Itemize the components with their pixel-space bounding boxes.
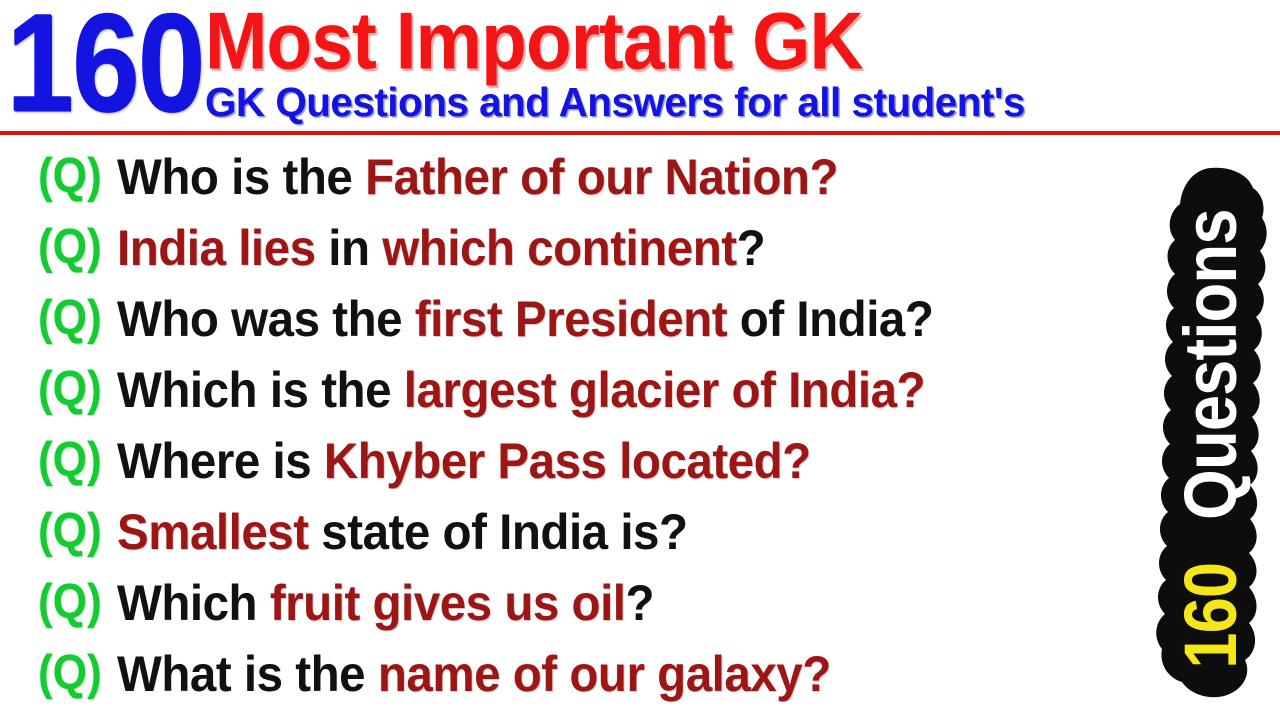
question-text: Where is Khyber Pass located?: [117, 434, 811, 488]
question-text: What is the name of our galaxy?: [117, 647, 831, 701]
header-divider: [0, 131, 1280, 135]
question-row: (Q)India lies in which continent?: [0, 212, 1160, 283]
question-text-segment: fruit gives us oil: [270, 575, 626, 631]
question-row: (Q)Which fruit gives us oil?: [0, 567, 1160, 638]
question-text-segment: which continent: [382, 220, 736, 276]
question-text-segment: Which is the: [117, 362, 404, 418]
question-list: (Q)Who is the Father of our Nation?(Q)In…: [0, 141, 1160, 709]
header: 160 Most Important GK GK Questions and A…: [0, 0, 1280, 134]
question-count-badge: 160 Questions: [1152, 166, 1270, 698]
question-marker: (Q): [38, 152, 102, 201]
question-row: (Q)Which is the largest glacier of India…: [0, 354, 1160, 425]
question-marker: (Q): [38, 436, 102, 485]
question-text-segment: India lies: [117, 220, 328, 276]
question-marker: (Q): [38, 507, 102, 556]
question-text-segment: name of our galaxy?: [378, 646, 831, 702]
question-text-segment: Father of our Nation?: [365, 149, 838, 205]
page-title: Most Important GK: [205, 0, 863, 83]
question-text: Who was the first President of India?: [117, 292, 933, 346]
question-marker: (Q): [38, 649, 102, 698]
question-text-segment: Smallest: [117, 504, 321, 560]
header-count: 160: [6, 0, 203, 130]
question-marker: (Q): [38, 365, 102, 414]
question-text-segment: Who is the: [117, 149, 365, 205]
question-marker: (Q): [38, 294, 102, 343]
question-row: (Q)Where is Khyber Pass located?: [0, 425, 1160, 496]
question-text-segment: What is the: [117, 646, 378, 702]
question-text: India lies in which continent?: [117, 221, 765, 275]
question-row: (Q)What is the name of our galaxy?: [0, 638, 1160, 709]
question-text-segment: state of India is?: [321, 504, 687, 560]
question-row: (Q)Smallest state of India is?: [0, 496, 1160, 567]
question-text-segment: Where is: [117, 433, 324, 489]
question-row: (Q)Who was the first President of India?: [0, 283, 1160, 354]
question-marker: (Q): [38, 223, 102, 272]
question-text-segment: of India?: [740, 291, 934, 347]
question-text: Smallest state of India is?: [117, 505, 688, 559]
question-text-segment: Who was the: [117, 291, 415, 347]
question-row: (Q)Who is the Father of our Nation?: [0, 141, 1160, 212]
question-text-segment: ?: [736, 220, 765, 276]
question-text-segment: largest glacier of India?: [404, 362, 925, 418]
question-marker: (Q): [38, 578, 102, 627]
question-text-segment: Khyber Pass located?: [324, 433, 811, 489]
question-text: Which is the largest glacier of India?: [117, 363, 925, 417]
question-text-segment: first President: [415, 291, 740, 347]
poster-canvas: 160 Most Important GK GK Questions and A…: [0, 0, 1280, 720]
badge-blob-shape: [1152, 166, 1270, 698]
question-text-segment: Which: [117, 575, 270, 631]
question-text: Which fruit gives us oil?: [117, 576, 654, 630]
question-text: Who is the Father of our Nation?: [117, 150, 838, 204]
page-subtitle: GK Questions and Answers for all student…: [205, 79, 1025, 125]
question-text-segment: ?: [625, 575, 654, 631]
question-text-segment: in: [328, 220, 382, 276]
